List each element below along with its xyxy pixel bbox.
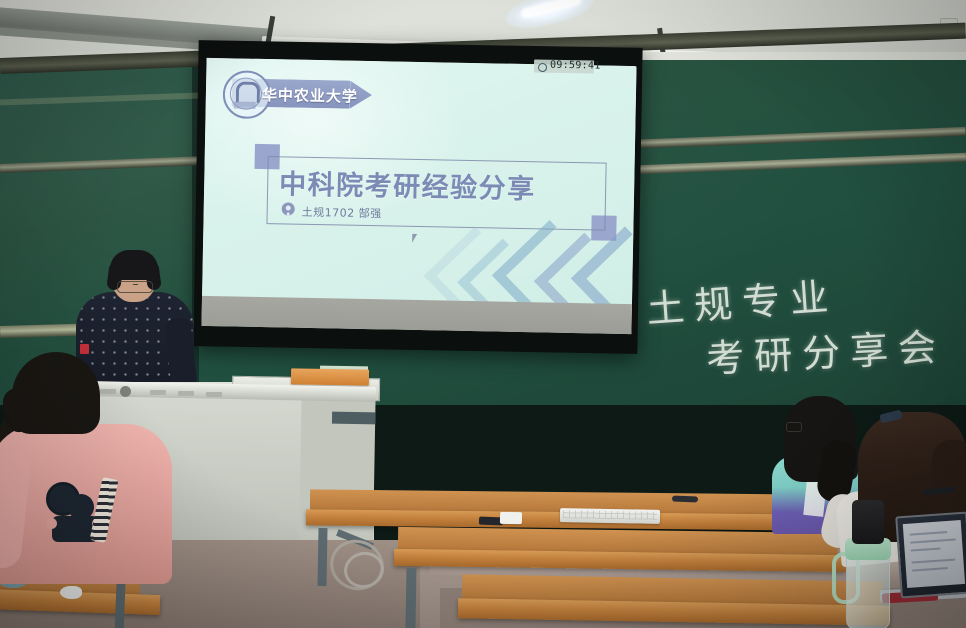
lectern-slot	[206, 392, 222, 397]
open-laptop[interactable]	[895, 512, 966, 599]
lectern-knob[interactable]	[120, 386, 131, 397]
laptop-text-line	[911, 548, 941, 552]
crest-year-band	[234, 101, 256, 108]
slide-presenter-name: 土规1702 郜强	[302, 204, 382, 222]
laptop-text-line	[911, 559, 955, 564]
desk-leg	[405, 568, 416, 628]
pen-on-desk	[672, 496, 698, 503]
lectern-slot	[150, 390, 166, 395]
cartoon-paw-left	[46, 518, 57, 529]
slide-title: 中科院考研经验分享	[279, 162, 536, 206]
presentation-slide: 华中农业大学 中科院考研经验分享 土规1702 郜强	[202, 58, 636, 304]
classroom-scene: 土规专业 考研分享会 华中农业大学 中科院考研经验分享 土规1702 郜强	[0, 0, 966, 628]
laptop-text-line	[910, 538, 956, 543]
projector-screen: 华中农业大学 中科院考研经验分享 土规1702 郜强	[201, 58, 636, 334]
laptop-text-line	[909, 531, 947, 536]
crumpled-tissue	[60, 586, 82, 599]
university-name: 华中农业大学	[262, 84, 358, 107]
eyeglasses-bridge	[133, 284, 138, 285]
keyboard-keys	[563, 510, 657, 520]
bottle-cap	[852, 500, 884, 544]
mouse-pointer-icon[interactable]	[412, 234, 421, 243]
eyeglasses-icon	[786, 422, 802, 432]
lectern-slot	[100, 389, 116, 394]
tissue-packet	[500, 512, 522, 524]
eyeglasses-icon	[117, 281, 153, 293]
desk-leg	[317, 528, 327, 586]
desktop-keyboard[interactable]	[560, 508, 660, 524]
lectern-slot	[178, 391, 194, 396]
timestamp-value: 09:59:41	[536, 59, 601, 71]
shirt-tag	[80, 344, 89, 354]
lectern-equipment-slot	[332, 412, 376, 425]
orange-book-on-lectern	[291, 368, 369, 385]
laptop-screen-content	[903, 520, 965, 588]
crest-monogram	[236, 81, 260, 102]
laptop-text-line	[912, 567, 948, 572]
